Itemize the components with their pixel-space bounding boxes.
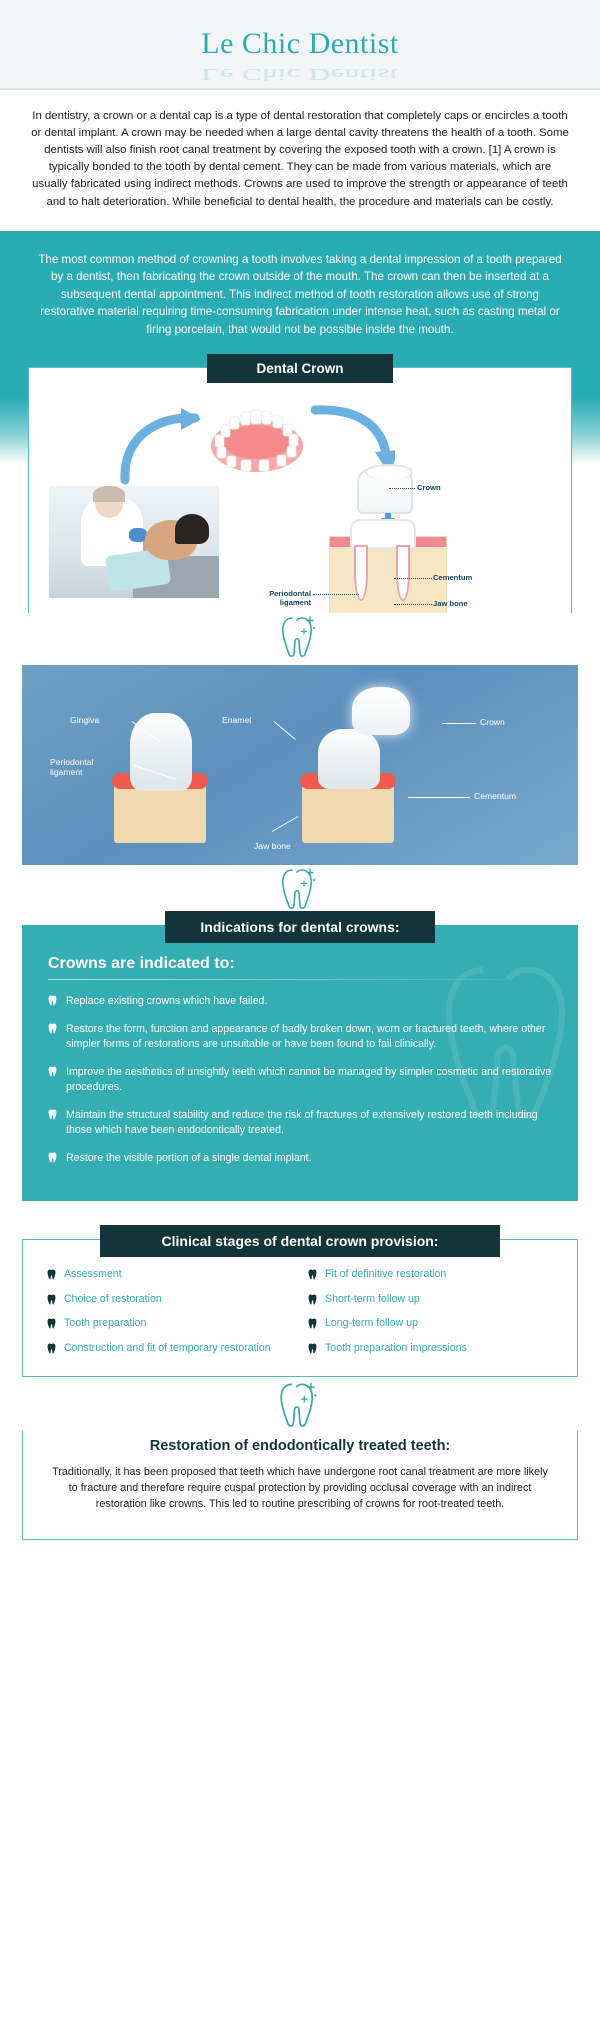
- list-item-text: Restore the visible portion of a single …: [66, 1151, 312, 1166]
- stage-item: Fit of definitive restoration: [308, 1268, 553, 1282]
- label-cementum: Cementum: [433, 574, 472, 583]
- tooth-divider-2: [0, 865, 600, 911]
- stage-item-text: Tooth preparation: [64, 1317, 146, 1331]
- stage-item: Tooth preparation impressions: [308, 1342, 553, 1356]
- tooth-icon: [280, 866, 320, 910]
- label-crown-2: Crown: [480, 717, 505, 727]
- natural-tooth: [130, 713, 192, 791]
- list-item: Restore the form, function and appearanc…: [48, 1022, 552, 1052]
- brand-text: Le Chic Dentist: [201, 27, 398, 60]
- leader-jawbone-2: [272, 816, 298, 832]
- label-enamel: Enamel: [222, 715, 251, 725]
- heading-underline: [48, 979, 512, 980]
- stage-item-text: Long-term follow up: [325, 1317, 418, 1331]
- clinical-stages-grid: Assessment Fit of definitive restoration…: [47, 1268, 553, 1356]
- indications-panel: Crowns are indicated to: Replace existin…: [22, 925, 578, 1201]
- list-item: Maintain the structural stability and re…: [48, 1108, 552, 1138]
- brand-logo: Le Chic Dentist Le Chic Dentist: [201, 29, 398, 59]
- site-header: Le Chic Dentist Le Chic Dentist: [0, 0, 600, 90]
- label-crown: Crown: [417, 484, 441, 493]
- stage-item-text: Short-term follow up: [325, 1293, 420, 1307]
- indications-badge: Indications for dental crowns:: [165, 911, 435, 943]
- leader-crown: [442, 723, 476, 724]
- tooth-bullet-icon: [308, 1269, 317, 1280]
- stage-item-text: Choice of restoration: [64, 1293, 162, 1307]
- arrow-left-icon: [117, 406, 201, 491]
- clinical-stages-badge: Clinical stages of dental crown provisio…: [100, 1225, 500, 1257]
- restoration-heading: Restoration of endodontically treated te…: [49, 1438, 551, 1454]
- prepared-tooth: [318, 729, 380, 789]
- tooth-root-illustration: [329, 536, 447, 618]
- stage-item-text: Construction and fit of temporary restor…: [64, 1342, 271, 1356]
- stage-item: Assessment: [47, 1268, 292, 1282]
- crown-cap-illustration: [357, 468, 413, 514]
- clinical-stages-panel: Assessment Fit of definitive restoration…: [22, 1239, 578, 1377]
- label-jaw-bone-2: Jaw bone: [254, 841, 291, 851]
- list-item: Replace existing crowns which have faile…: [48, 994, 552, 1009]
- teal-highlight-section: The most common method of crowning a too…: [0, 231, 600, 355]
- tooth-bullet-icon: [47, 1318, 56, 1329]
- stage-item-text: Assessment: [64, 1268, 122, 1282]
- tooth-bullet-icon: [48, 1023, 57, 1034]
- list-item-text: Maintain the structural stability and re…: [66, 1108, 552, 1138]
- list-item-text: Improve the aesthetics of unsightly teet…: [66, 1065, 552, 1095]
- dental-crown-diagram-section: Dental Crown: [0, 354, 600, 629]
- tooth-bullet-icon: [48, 1109, 57, 1120]
- stage-item: Construction and fit of temporary restor…: [47, 1342, 292, 1356]
- tooth-bullet-icon: [308, 1343, 317, 1354]
- tooth-bullet-icon: [47, 1294, 56, 1305]
- tooth-icon: [278, 1380, 322, 1428]
- intro-section: In dentistry, a crown or a dental cap is…: [0, 90, 600, 231]
- denture-illustration: [197, 398, 317, 476]
- tooth-bullet-icon: [308, 1318, 317, 1329]
- tooth-icon: [280, 614, 320, 658]
- leader-cementum-2: [408, 797, 470, 798]
- leader-line-cementum: [394, 578, 432, 579]
- indications-section: Indications for dental crowns: Crowns ar…: [0, 911, 600, 1201]
- stage-item: Short-term follow up: [308, 1293, 553, 1307]
- clinical-stages-section: Clinical stages of dental crown provisio…: [0, 1225, 600, 1377]
- leader-line-periodontal: [313, 594, 359, 595]
- label-periodontal-ligament-2: Periodontal ligament: [50, 757, 93, 778]
- stage-item-text: Fit of definitive restoration: [325, 1268, 446, 1282]
- leader-enamel: [274, 721, 296, 740]
- tooth-divider-3: [0, 1377, 600, 1431]
- intro-paragraph: In dentistry, a crown or a dental cap is…: [30, 108, 570, 211]
- tooth-divider-1: [0, 613, 600, 659]
- tooth-bullet-icon: [47, 1343, 56, 1354]
- dental-crown-card: Crown Cementum Jaw bone Periodontal liga…: [28, 367, 572, 629]
- tooth-bullet-icon: [308, 1294, 317, 1305]
- tooth-bullet-icon: [48, 1066, 57, 1077]
- jawbone-right: [302, 781, 394, 843]
- brand-reflection: Le Chic Dentist: [201, 66, 398, 83]
- list-item-text: Replace existing crowns which have faile…: [66, 994, 267, 1009]
- indications-list: Replace existing crowns which have faile…: [48, 994, 552, 1166]
- tooth-bullet-icon: [47, 1269, 56, 1280]
- label-jaw-bone: Jaw bone: [433, 600, 468, 609]
- tooth-anatomy-diagram: Gingiva Enamel Crown Periodontal ligamen…: [22, 665, 578, 865]
- tooth-bullet-icon: [48, 995, 57, 1006]
- dental-crown-badge: Dental Crown: [207, 354, 393, 383]
- teal-paragraph: The most common method of crowning a too…: [34, 251, 566, 339]
- leader-line-crown: [389, 488, 415, 489]
- stage-item: Choice of restoration: [47, 1293, 292, 1307]
- stage-item: Long-term follow up: [308, 1317, 553, 1331]
- list-item: Improve the aesthetics of unsightly teet…: [48, 1065, 552, 1095]
- restoration-paragraph: Traditionally, it has been proposed that…: [49, 1464, 551, 1513]
- leader-line-jawbone: [394, 604, 432, 605]
- crown-illustration: [352, 687, 410, 735]
- indications-heading: Crowns are indicated to:: [48, 955, 552, 973]
- label-gingiva: Gingiva: [70, 715, 99, 725]
- list-item-text: Restore the form, function and appearanc…: [66, 1022, 552, 1052]
- label-periodontal-ligament: Periodontal ligament: [249, 590, 311, 608]
- tooth-bullet-icon: [48, 1152, 57, 1163]
- label-cementum-2: Cementum: [474, 791, 516, 801]
- list-item: Restore the visible portion of a single …: [48, 1151, 552, 1166]
- dentist-patient-photo: [49, 486, 219, 598]
- stage-item: Tooth preparation: [47, 1317, 292, 1331]
- stage-item-text: Tooth preparation impressions: [325, 1342, 467, 1356]
